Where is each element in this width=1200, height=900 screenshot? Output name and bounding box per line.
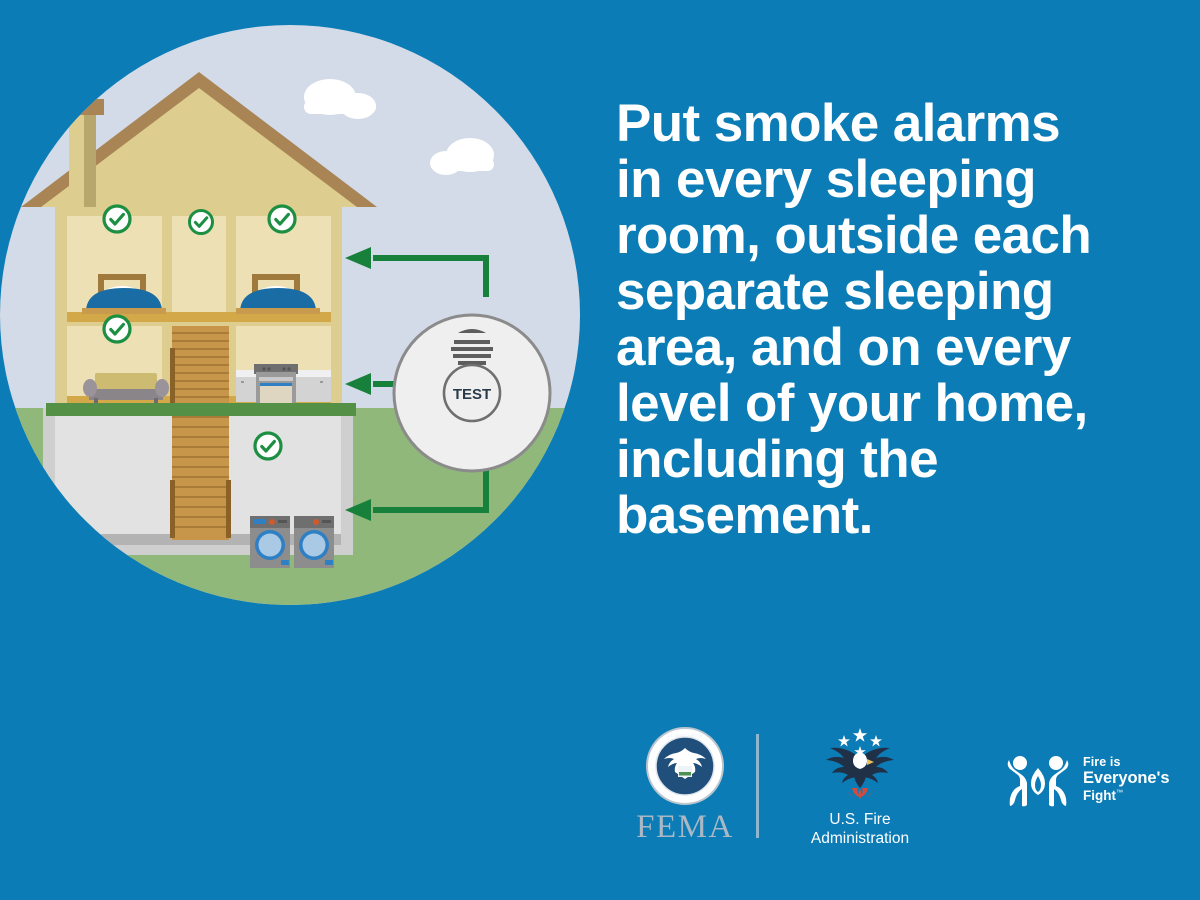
headline-line: room, outside each: [616, 208, 1156, 264]
headline-line: Put smoke alarms: [616, 96, 1156, 152]
fief-people-flame-icon: [1000, 750, 1076, 808]
basement-stairs: [170, 408, 231, 540]
smoke-alarm[interactable]: TEST: [394, 315, 550, 471]
check-basement-icon: [255, 433, 281, 459]
headline-line: basement.: [616, 488, 1156, 544]
headline-line: in every sleeping: [616, 152, 1156, 208]
usfa-wordmark: U.S. Fire Administration: [780, 810, 940, 848]
fief-wordmark: Fire is Everyone's Fight™: [1083, 756, 1169, 803]
svg-text:U.S. DEPARTMENT OF: U.S. DEPARTMENT OF: [667, 734, 703, 738]
alarm-test-label: TEST: [453, 386, 491, 403]
house-illustration: TEST: [0, 0, 600, 680]
ground-line: [46, 403, 356, 416]
usfa-logo: U.S. Fire Administration: [780, 726, 940, 848]
fief-line-3: Fight™: [1083, 789, 1169, 803]
fief-trademark: ™: [1116, 789, 1123, 796]
usfa-line-2: Administration: [780, 829, 940, 848]
fema-logo: U.S. DEPARTMENT OF FEMA: [620, 726, 750, 844]
check-living-room-icon: [104, 316, 130, 342]
check-bedroom-left-icon: [104, 206, 130, 232]
kitchen: [236, 364, 331, 404]
headline-line: including the: [616, 432, 1156, 488]
fief-fight-text: Fight: [1083, 788, 1116, 803]
headline-line: level of your home,: [616, 376, 1156, 432]
logo-divider: [756, 734, 759, 838]
check-bedroom-right-icon: [269, 206, 295, 232]
infographic-canvas: TEST Put smoke alarms in every sleeping …: [0, 0, 1200, 900]
fief-line-1: Fire is: [1083, 756, 1169, 769]
fema-wordmark: FEMA: [620, 810, 750, 844]
footer-logos: U.S. DEPARTMENT OF FEMA: [600, 726, 1180, 866]
main-stairs: [170, 326, 229, 406]
alarm-vent-icon: [450, 328, 494, 368]
headline-line: area, and on every: [616, 320, 1156, 376]
scene-circle: TEST: [0, 0, 600, 680]
fief-line-2: Everyone's: [1083, 770, 1169, 787]
dhs-seal-icon: U.S. DEPARTMENT OF: [645, 726, 725, 806]
check-hallway-upper-icon: [190, 211, 213, 234]
page-headline: Put smoke alarms in every sleeping room,…: [616, 96, 1156, 544]
dryer-icon: [294, 516, 334, 568]
washer-icon: [250, 516, 290, 568]
fief-logo: Fire is Everyone's Fight™: [1000, 750, 1180, 808]
usfa-line-1: U.S. Fire: [780, 810, 940, 829]
headline-line: separate sleeping: [616, 264, 1156, 320]
usfa-eagle-icon: [806, 726, 914, 808]
